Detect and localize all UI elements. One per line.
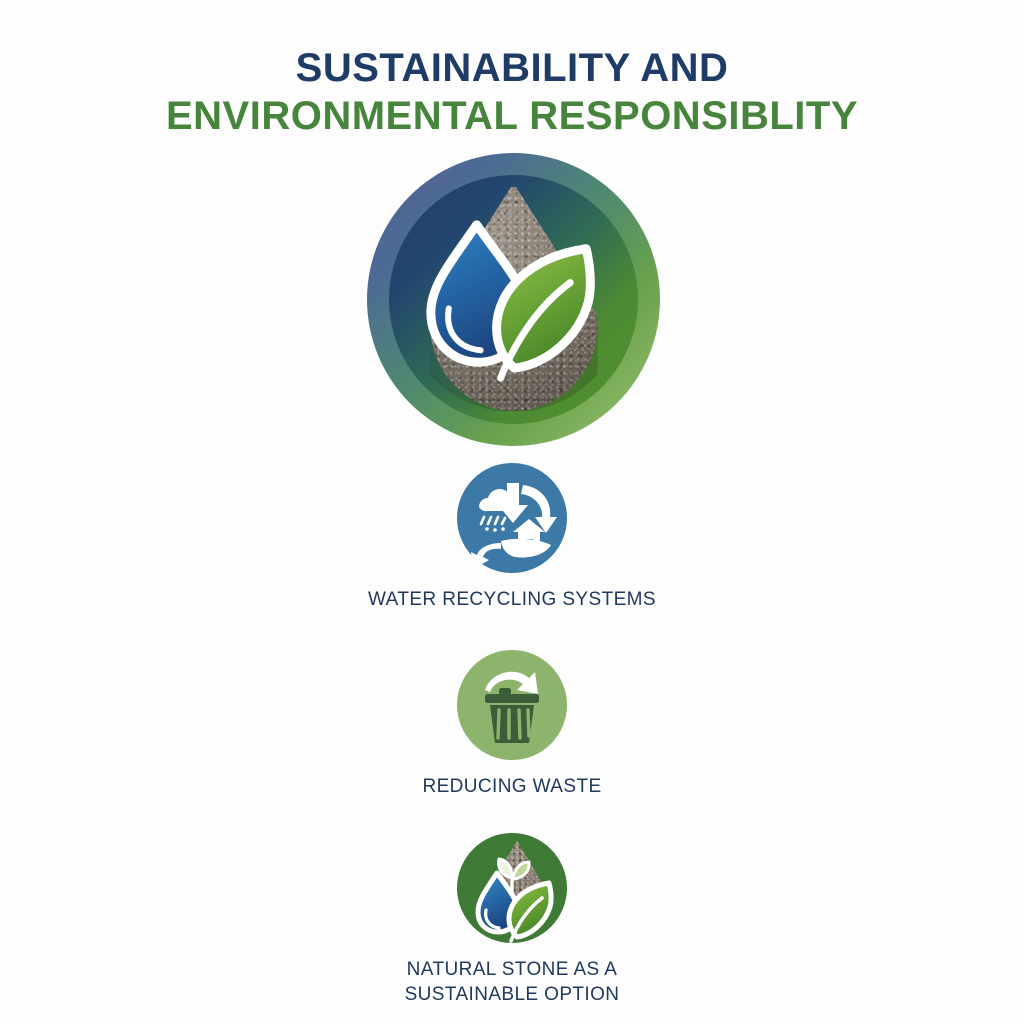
- spacer: [0, 612, 1024, 650]
- trash-bin-icon: [485, 688, 539, 743]
- feature-label-reducing-waste: REDUCING WASTE: [0, 774, 1024, 799]
- emblem-content: [401, 187, 626, 412]
- feature-item-water-recycling[interactable]: WATER RECYCLING SYSTEMS: [0, 463, 1024, 612]
- spacer: [0, 799, 1024, 833]
- stone-emblem-glyphs: [457, 833, 567, 943]
- page-title: SUSTAINABILITY AND ENVIRONMENTAL RESPONS…: [0, 44, 1024, 140]
- rain-cloud-icon: [479, 489, 519, 532]
- water-recycling-icon: [457, 463, 567, 573]
- feature-item-natural-stone[interactable]: NATURAL STONE AS A SUSTAINABLE OPTION: [0, 833, 1024, 1007]
- title-line-2: ENVIRONMENTAL RESPONSIBLITY: [0, 92, 1024, 140]
- leaf-icon: [509, 883, 551, 941]
- up-arrow-icon: [471, 543, 501, 569]
- trash-recycle-icon: [457, 650, 567, 760]
- feature-list: WATER RECYCLING SYSTEMS: [0, 463, 1024, 1007]
- water-recycling-glyphs: [457, 463, 567, 573]
- ground-basin-icon: [501, 539, 551, 558]
- title-line-1: SUSTAINABILITY AND: [0, 44, 1024, 92]
- infographic-canvas: SUSTAINABILITY AND ENVIRONMENTAL RESPONS…: [0, 0, 1024, 1024]
- feature-label-natural-stone-line2: SUSTAINABLE OPTION: [0, 982, 1024, 1007]
- stone-water-leaf-sprout-icon: [457, 833, 567, 943]
- trash-recycle-glyphs: [457, 650, 567, 760]
- feature-label-natural-stone: NATURAL STONE AS A SUSTAINABLE OPTION: [0, 957, 1024, 1007]
- feature-label-water-recycling: WATER RECYCLING SYSTEMS: [0, 587, 1024, 612]
- sustainability-emblem: [367, 153, 660, 446]
- feature-label-natural-stone-line1: NATURAL STONE AS A: [0, 957, 1024, 982]
- emblem-drop-leaf-svg: [401, 187, 626, 412]
- curved-arrow-icon: [485, 672, 538, 694]
- feature-item-reducing-waste[interactable]: REDUCING WASTE: [0, 650, 1024, 799]
